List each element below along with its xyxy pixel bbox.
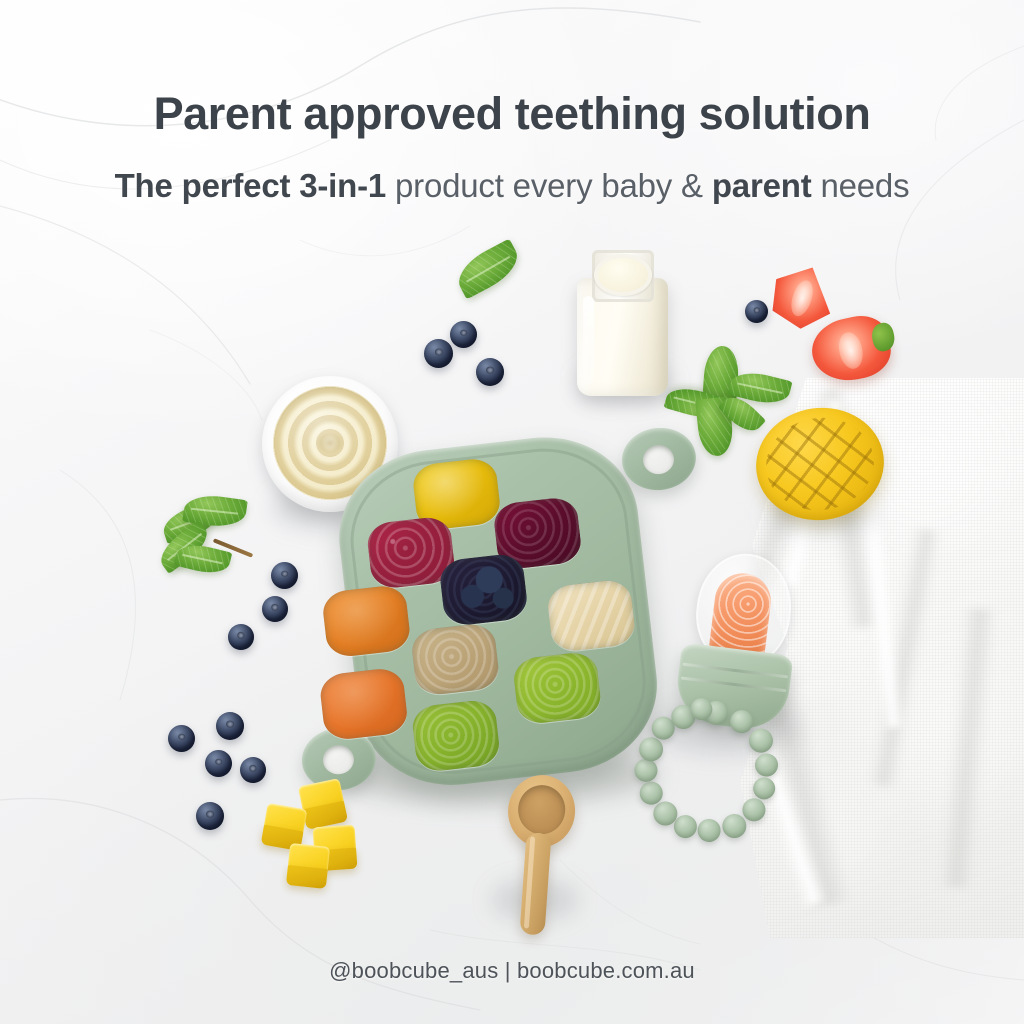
bottle-mouth-milk (594, 254, 652, 296)
collar-ridge (683, 663, 789, 679)
subtitle-bold-1: The perfect 3-in-1 (115, 167, 386, 204)
teether-bead (741, 797, 767, 823)
loop-hole (321, 744, 355, 776)
puree-broccoli-pea (410, 698, 501, 773)
mango-cube (286, 843, 330, 889)
blueberry (205, 750, 232, 777)
fresh-food-feeder[interactable] (621, 542, 830, 851)
puree-banana (546, 578, 637, 653)
spoon-handle (519, 832, 551, 935)
teether-bead (633, 758, 659, 784)
milk-bottle (573, 250, 672, 396)
tray-cavity-carrot[interactable] (318, 666, 409, 741)
page-title: Parent approved teething solution (0, 88, 1024, 140)
teether-bead (748, 727, 775, 754)
puree-blueberry (438, 552, 529, 627)
beaded-teether-ring[interactable] (629, 694, 785, 848)
bottle-highlight (583, 296, 594, 384)
subtitle-light-2: needs (812, 167, 910, 204)
cube-side-face (286, 865, 328, 889)
blueberry (424, 339, 453, 368)
blueberry (745, 300, 768, 323)
blueberry (228, 624, 254, 650)
blueberry (450, 321, 477, 348)
blueberry (476, 358, 504, 386)
teether-bead (752, 776, 777, 801)
teether-bead (696, 818, 722, 844)
puree-apple-oat (410, 622, 501, 697)
teether-bead (754, 752, 780, 778)
blueberry (196, 802, 224, 830)
mango-cube (298, 778, 348, 830)
tray-cavity-pea[interactable] (512, 650, 603, 725)
blueberry (240, 757, 266, 783)
mint-sprig-left (160, 500, 280, 590)
page-subtitle: The perfect 3-in-1 product every baby & … (0, 167, 1024, 205)
mint-sprig-right (668, 346, 796, 458)
teether-bead (729, 709, 755, 735)
blueberry (262, 596, 288, 622)
subtitle-bold-2: parent (703, 167, 812, 204)
product-photo-canvas: Parent approved teething solution The pe… (0, 0, 1024, 1024)
tray-cavity-blueberry[interactable] (438, 552, 529, 627)
footer-credit: @boobcube_aus | boobcube.com.au (0, 958, 1024, 984)
tray-cavity-broccoli-pea[interactable] (410, 698, 501, 773)
blueberry (216, 712, 244, 740)
tray-cavity-apple-oat[interactable] (410, 622, 501, 697)
subtitle-light-1: product every baby & (386, 167, 703, 204)
puree-pumpkin (321, 584, 412, 659)
puree-carrot (318, 666, 409, 741)
blueberry (168, 725, 195, 752)
tray-cavity-pumpkin[interactable] (321, 584, 412, 659)
tray-cavity-banana[interactable] (546, 578, 637, 653)
collar-ridge (681, 676, 787, 692)
wooden-spoon[interactable] (478, 771, 599, 938)
puree-pea (512, 650, 603, 725)
